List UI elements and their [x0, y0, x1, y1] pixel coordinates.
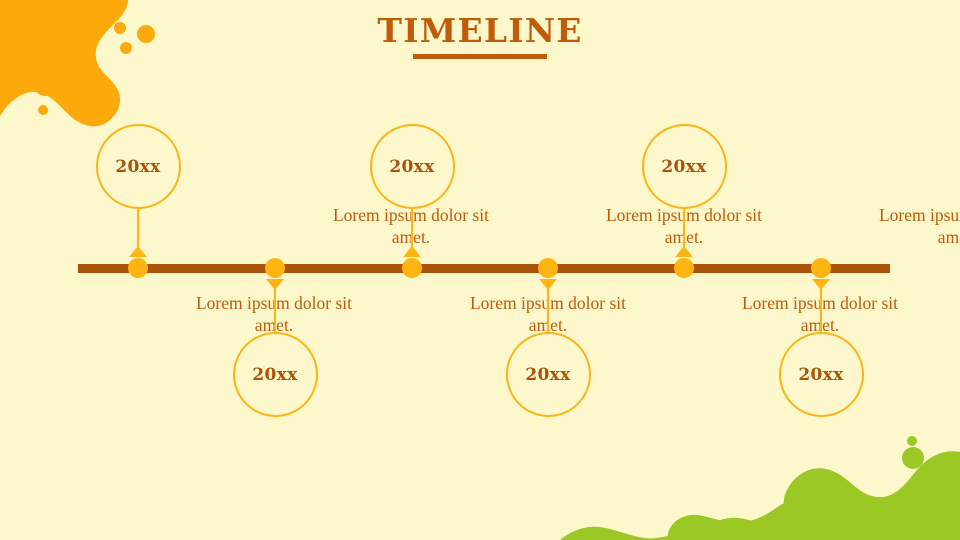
- year-circle-6[interactable]: 20xx: [779, 332, 864, 417]
- event-caption-6: Lorem ipsum dolor sit amet.: [873, 204, 960, 249]
- title-block: TIMELINE: [0, 14, 960, 59]
- orange-droplet: [34, 74, 56, 96]
- page-title: TIMELINE: [377, 14, 582, 49]
- timeline-marker-dot[interactable]: [674, 258, 694, 278]
- connector-stem: [274, 289, 276, 332]
- green-droplet: [848, 512, 858, 522]
- pointer-up-icon: [675, 246, 693, 257]
- year-circle-2[interactable]: 20xx: [233, 332, 318, 417]
- connector-stem: [137, 209, 139, 247]
- year-circle-4[interactable]: 20xx: [506, 332, 591, 417]
- connector-stem: [547, 289, 549, 332]
- timeline-marker-dot[interactable]: [265, 258, 285, 278]
- connector-stem: [683, 209, 685, 247]
- year-label: 20xx: [252, 365, 297, 385]
- year-label: 20xx: [661, 157, 706, 177]
- pointer-up-icon: [403, 246, 421, 257]
- title-underline: [413, 54, 547, 59]
- year-circle-1[interactable]: 20xx: [96, 124, 181, 209]
- timeline-marker-dot[interactable]: [128, 258, 148, 278]
- year-circle-3[interactable]: 20xx: [370, 124, 455, 209]
- green-blob-tail-shape: [560, 527, 700, 540]
- timeline-marker-dot[interactable]: [538, 258, 558, 278]
- green-droplet: [846, 498, 856, 508]
- green-droplet: [907, 436, 917, 446]
- timeline-axis: [78, 264, 890, 273]
- pointer-up-icon: [129, 246, 147, 257]
- connector-stem: [411, 209, 413, 247]
- orange-droplet: [38, 105, 48, 115]
- timeline-marker-dot[interactable]: [402, 258, 422, 278]
- green-blob-shape: [668, 451, 960, 540]
- timeline-marker-dot[interactable]: [811, 258, 831, 278]
- green-droplet: [902, 447, 924, 469]
- year-circle-5[interactable]: 20xx: [642, 124, 727, 209]
- year-label: 20xx: [389, 157, 434, 177]
- timeline-slide: TIMELINE 20xxLorem ipsum dolor sit amet.…: [0, 0, 960, 540]
- green-blob-lower-shape: [700, 470, 960, 540]
- year-label: 20xx: [115, 157, 160, 177]
- year-label: 20xx: [798, 365, 843, 385]
- year-label: 20xx: [525, 365, 570, 385]
- connector-stem: [820, 289, 822, 332]
- green-droplet: [830, 501, 846, 517]
